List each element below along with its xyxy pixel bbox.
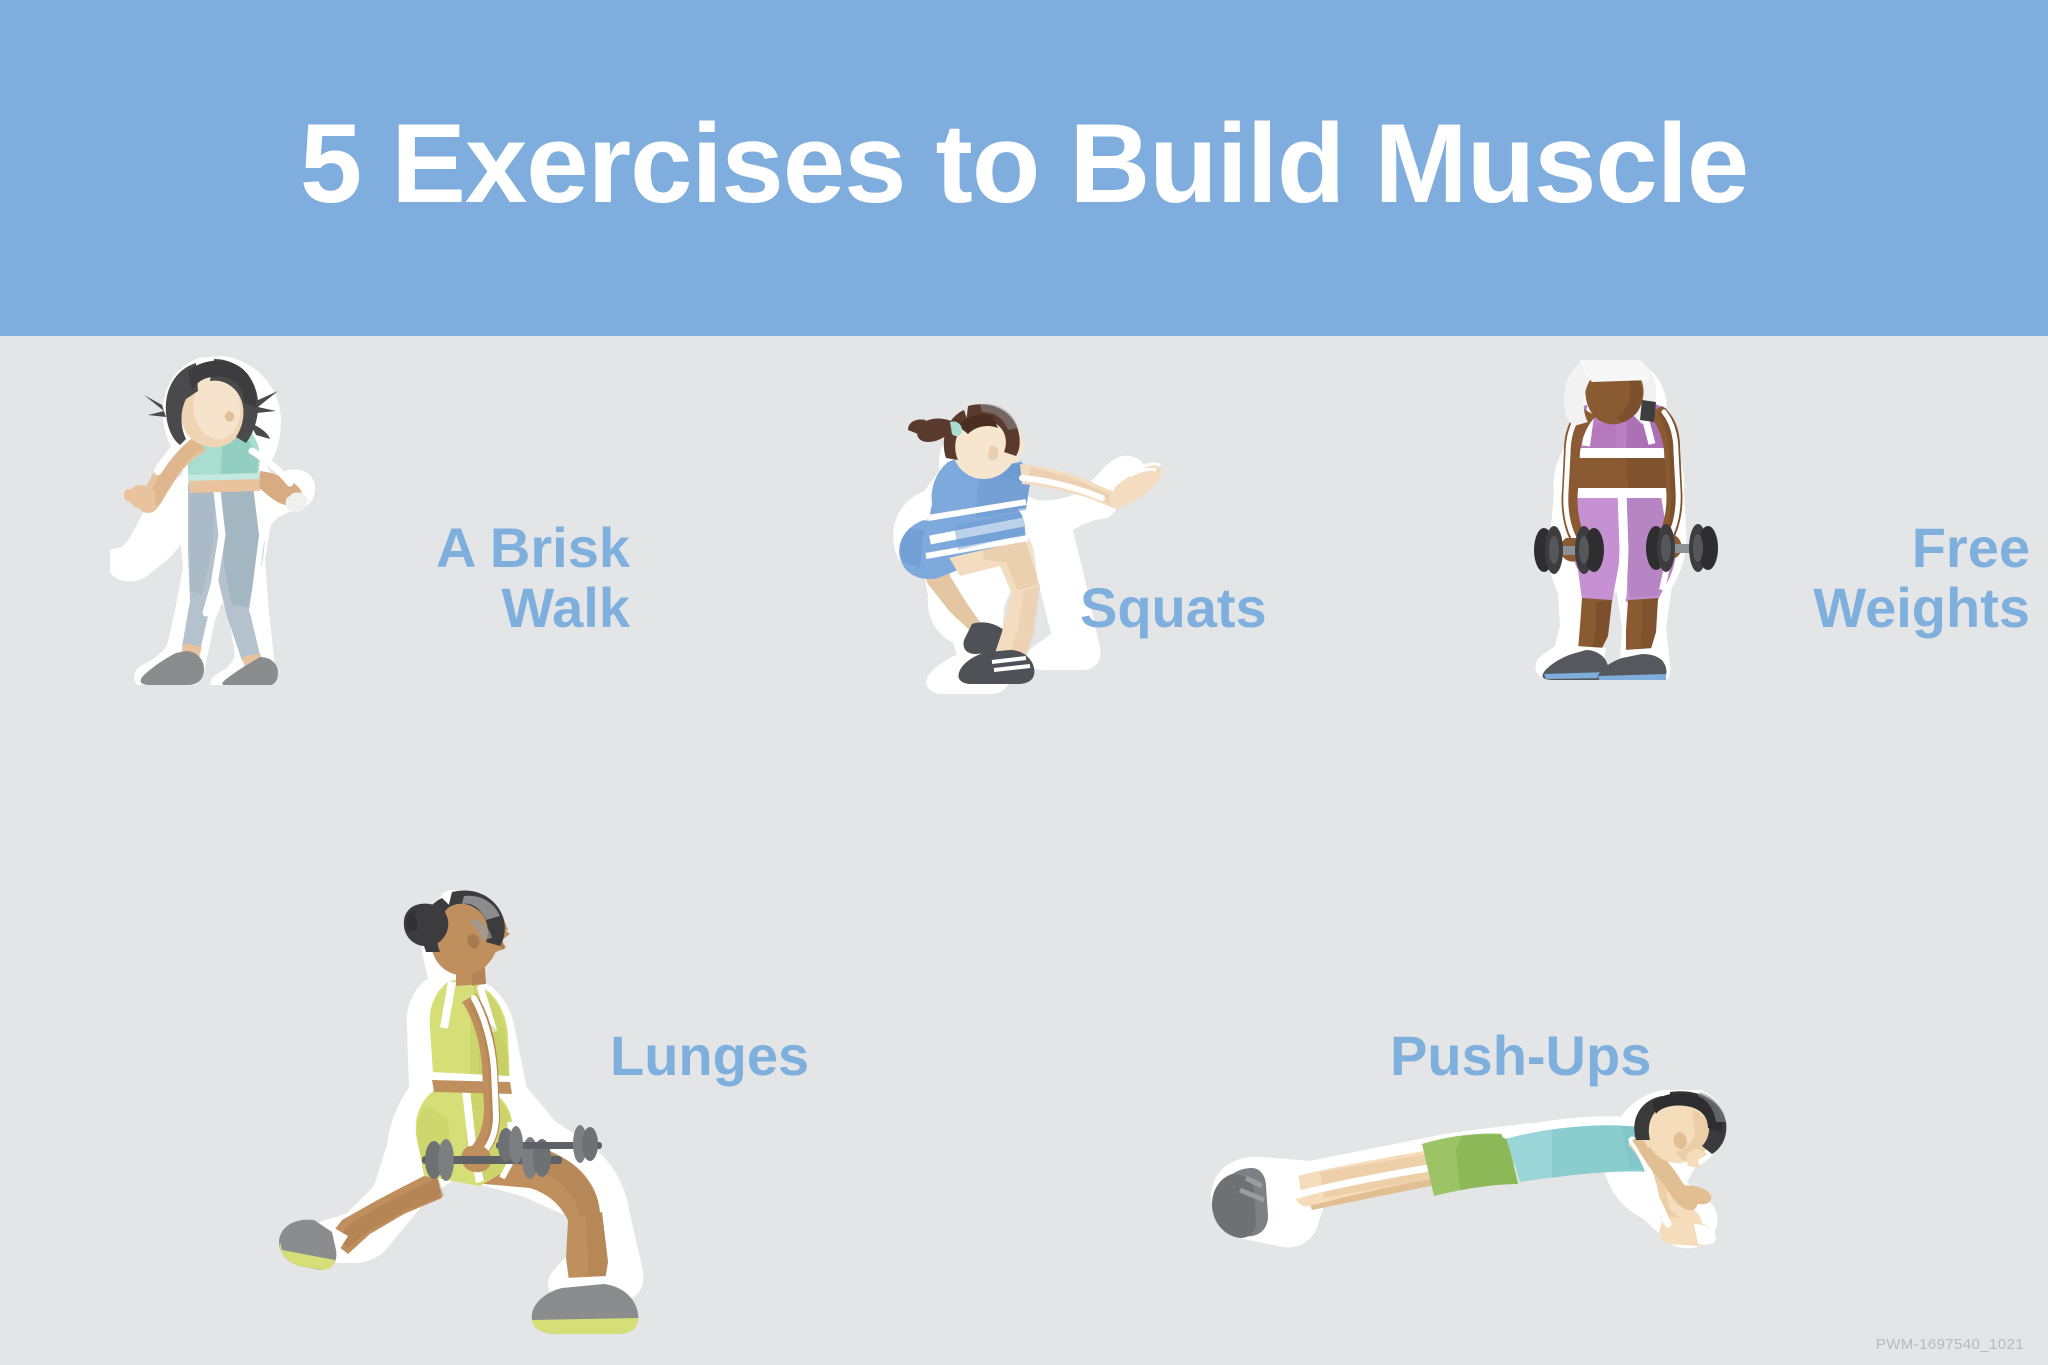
infographic-poster: 5 Exercises to Build Muscle	[0, 0, 2048, 1365]
exercise-label-lunges: Lunges	[610, 1026, 910, 1086]
lunging-woman-illustration	[270, 890, 670, 1350]
watermark-id: PWM-1697540_1021	[1876, 1336, 2024, 1353]
squatting-woman-illustration	[880, 400, 1180, 700]
exercise-label-squats: Squats	[1080, 578, 1340, 638]
exercise-label-free-weights: Free Weights	[1700, 518, 2030, 639]
page-title: 5 Exercises to Build Muscle	[0, 108, 2048, 220]
exercise-label-brisk-walk: A Brisk Walk	[300, 518, 630, 639]
pushup-man-illustration	[1200, 1090, 1760, 1340]
exercise-label-push-ups: Push-Ups	[1390, 1026, 1710, 1086]
